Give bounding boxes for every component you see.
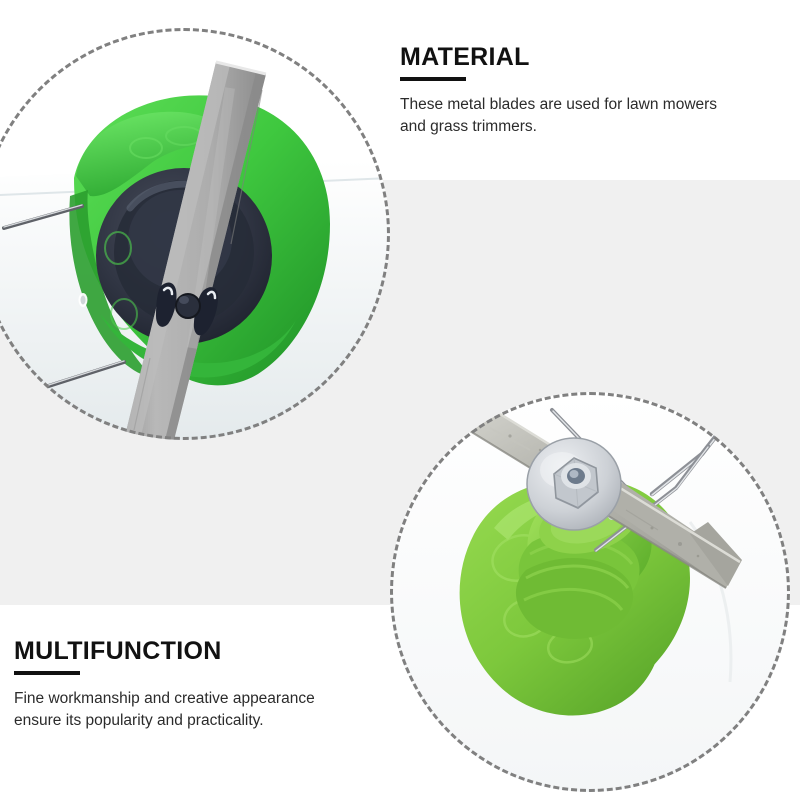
multifunction-heading: MULTIFUNCTION [14,638,384,664]
multifunction-heading-underline [14,671,80,675]
product-photo-top-left [0,28,390,440]
material-heading: MATERIAL [400,44,760,70]
material-text-block: MATERIAL These metal blades are used for… [400,44,760,137]
product-photo-bottom-right [390,392,790,792]
trimmer-head-closeup-illustration [0,28,390,440]
center-bolt-washer [527,438,621,530]
infographic-canvas: MATERIAL These metal blades are used for… [0,0,800,800]
trimmer-head-topview-illustration [390,392,790,792]
multifunction-body-text: Fine workmanship and creative appearance… [14,688,334,731]
multifunction-text-block: MULTIFUNCTION Fine workmanship and creat… [14,638,384,731]
material-heading-underline [400,77,466,81]
material-body-text: These metal blades are used for lawn mow… [400,94,720,137]
